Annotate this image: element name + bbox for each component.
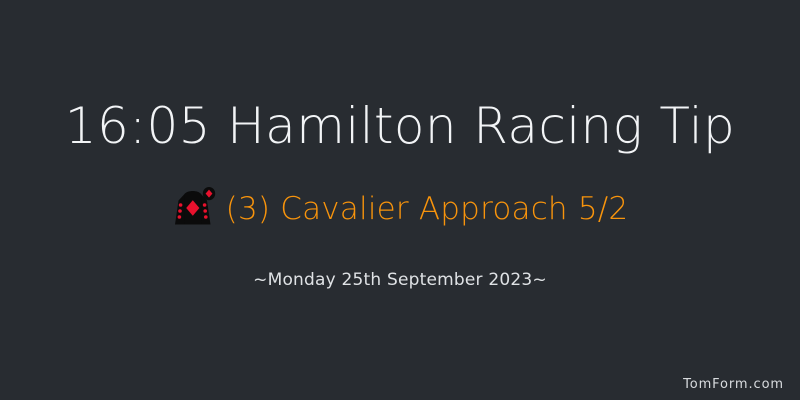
- racing-tip-card: 16:05 Hamilton Racing Tip (3) Cavalier A…: [0, 0, 800, 400]
- selection-label: (3) Cavalier Approach 5/2: [226, 189, 629, 229]
- race-date: ~Monday 25th September 2023~: [0, 268, 800, 292]
- jockey-silks-icon: [172, 186, 216, 232]
- site-watermark: TomForm.com: [683, 376, 784, 394]
- page-title: 16:05 Hamilton Racing Tip: [0, 96, 800, 156]
- selection-row: (3) Cavalier Approach 5/2: [0, 184, 800, 234]
